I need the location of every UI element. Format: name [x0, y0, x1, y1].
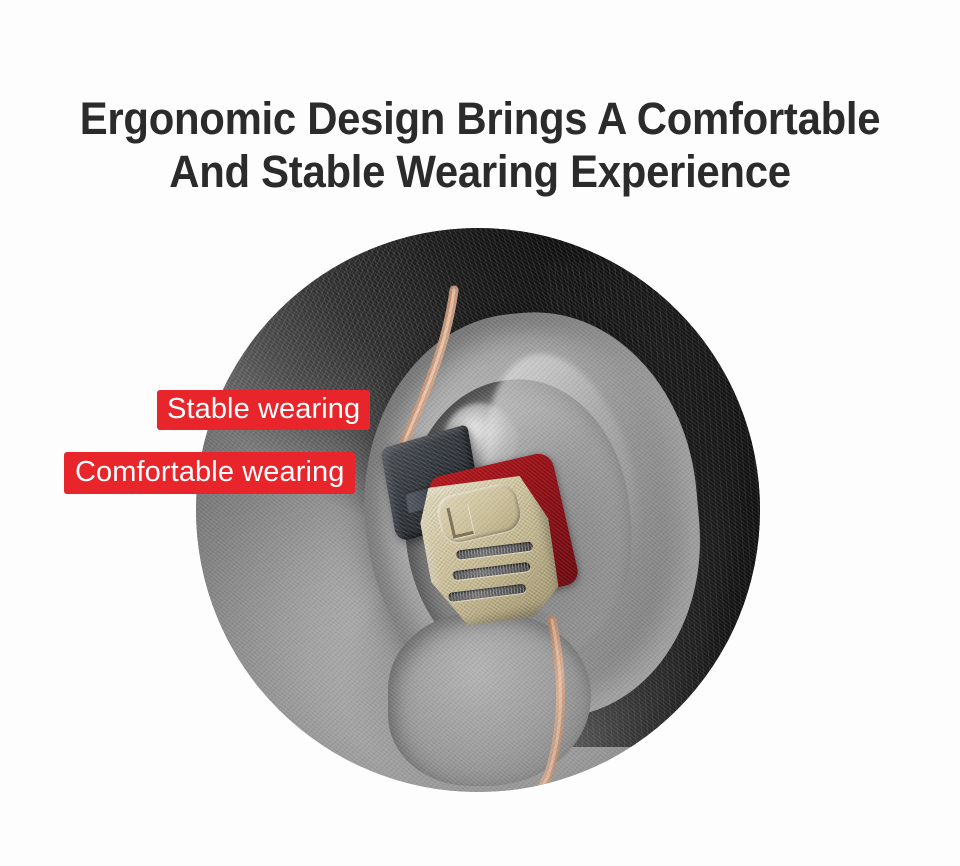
earphone-unit [382, 431, 608, 657]
earphone-vent-group [441, 538, 548, 618]
callout-comfortable-wearing: Comfortable wearing [64, 452, 355, 494]
earphone-vent-slot [452, 563, 530, 581]
callout-stable-wearing: Stable wearing [157, 390, 370, 430]
page-title: Ergonomic Design Brings A Comfortable An… [34, 92, 927, 198]
product-feature-banner: Ergonomic Design Brings A Comfortable An… [0, 0, 960, 866]
ear-photo-circle [196, 228, 760, 792]
earphone-vent-slot [447, 584, 525, 602]
left-channel-l-icon [446, 504, 473, 539]
